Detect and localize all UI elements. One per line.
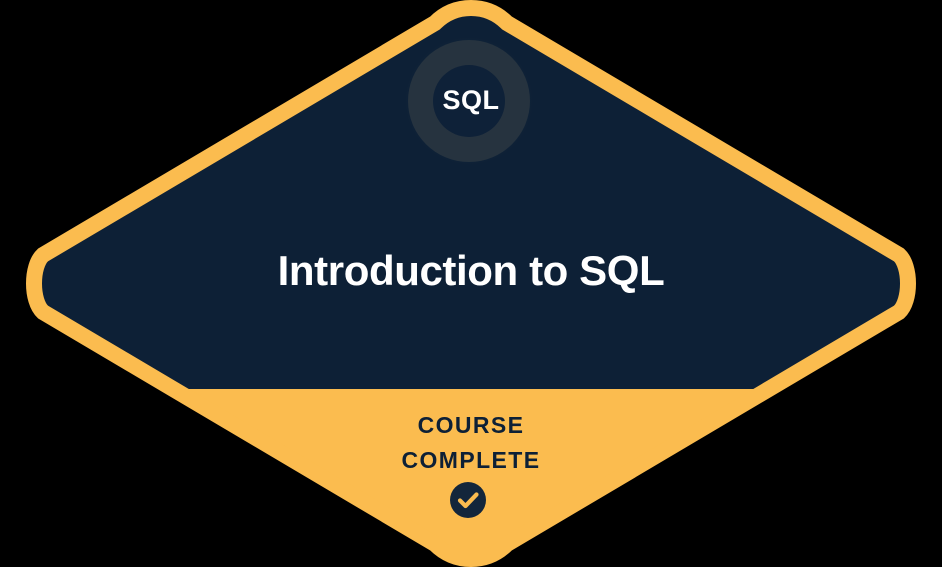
course-completion-badge[interactable]: SQL Introduction to SQL COURSE COMPLETE [0,0,942,567]
ring-inner [433,65,505,137]
check-mark-icon [450,482,486,518]
check-circle [450,482,486,518]
sql-ring-icon [405,37,533,165]
badge-artwork [0,0,942,567]
